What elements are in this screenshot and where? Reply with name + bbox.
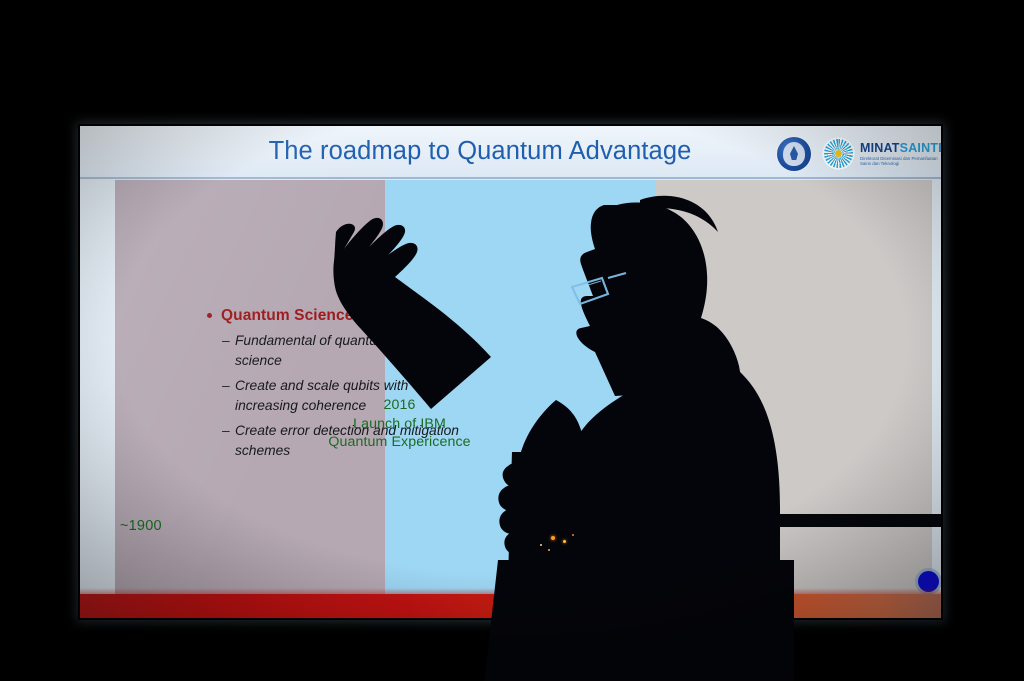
arrow-era-future-extension (740, 514, 830, 527)
milestone-line2: Quantum Expericence (302, 433, 497, 452)
bullet-dash-2: – (222, 376, 230, 396)
watch-light-speck (551, 536, 555, 540)
projection-screen: The roadmap to Quantum Advantage MINATSA… (80, 126, 941, 618)
burst-center-dot-icon (835, 150, 842, 157)
watch-light-speck (572, 534, 574, 536)
arrow-shaft (822, 514, 941, 527)
band-quantum-advantage (655, 180, 932, 594)
minatsaintek-wordmark: MINATSAINTEK (860, 141, 941, 155)
bullet-heading: Quantum Science (204, 307, 474, 325)
burst-icon (822, 137, 855, 170)
minatsaintek-subtitle-line2: Sains dan Teknologi (860, 161, 938, 166)
bullet-item-1: – Fundamental of quantum information sci… (204, 331, 474, 370)
bullet-dash-3: – (222, 421, 230, 441)
bullet-item-1-text: Fundamental of quantum information scien… (235, 333, 460, 368)
timeline-start-label: ~1900 (120, 518, 162, 534)
milestone-line1: Launch of IBM (302, 415, 497, 434)
bottom-glow-band (80, 594, 941, 618)
minatsaintek-logo: MINATSAINTEK Direktorat Diseminasi dan P… (822, 136, 941, 172)
saintek-word: SAINTEK (900, 141, 941, 155)
dark-room-background: The roadmap to Quantum Advantage MINATSA… (0, 0, 1024, 681)
milestone-year: 2016 (302, 396, 497, 415)
watch-light-speck (563, 540, 566, 543)
milestone-note-2016: 2016 Launch of IBM Quantum Expericence (302, 396, 497, 452)
minat-word: MINAT (860, 141, 900, 155)
watch-light-speck (540, 544, 542, 546)
bullet-dash-1: – (222, 331, 230, 351)
watch-light-speck (548, 549, 550, 551)
university-seal-icon (777, 137, 811, 171)
minatsaintek-subtitle: Direktorat Diseminasi dan Pemanfaatan Sa… (860, 156, 938, 167)
slide-title: The roadmap to Quantum Advantage (200, 137, 760, 166)
title-divider (80, 177, 941, 179)
